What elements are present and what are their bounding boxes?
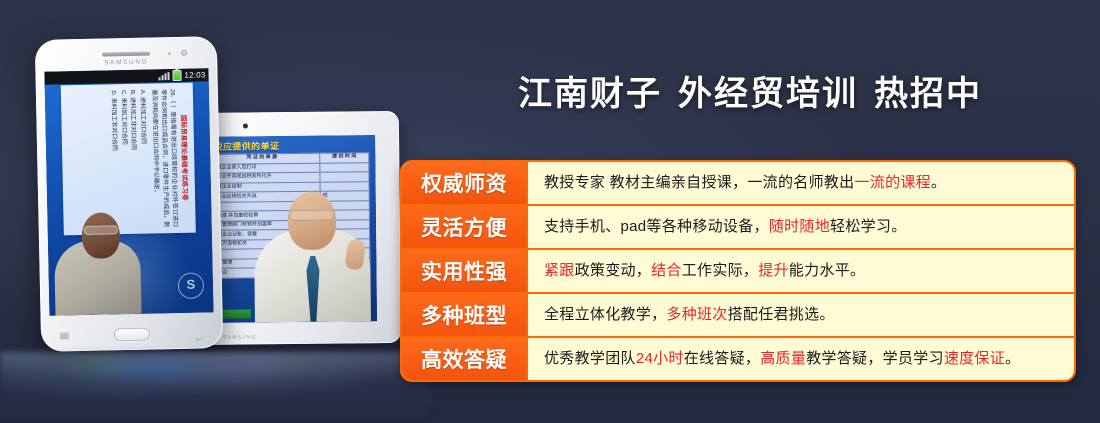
highlight-text: 高质量 — [760, 349, 806, 369]
highlight-text: 一流的课程 — [854, 173, 931, 193]
headline-part-3: 热招中 — [874, 75, 982, 113]
highlight-text: 提升 — [758, 261, 789, 281]
body-text: 支持手机、pad等各种移动设备， — [544, 217, 769, 237]
headline-part-1: 江南财子 — [518, 75, 662, 113]
lecturer-glasses-icon — [289, 210, 335, 221]
phone-home-button[interactable] — [114, 328, 150, 342]
highlight-text: 速度保证 — [944, 349, 1005, 369]
body-text: 能力水平。 — [789, 261, 866, 281]
page-title: 江南财子外经贸培训热招中 — [400, 66, 1100, 115]
phone-earpiece-icon — [102, 52, 150, 57]
body-text: 在线答疑， — [684, 349, 761, 369]
table-header-cell: 提 供 时 间 — [320, 153, 369, 163]
battery-icon — [172, 70, 181, 81]
feature-label-3: 多种班型 — [402, 294, 528, 336]
body-text: 教学答疑，学员学习 — [806, 349, 944, 369]
phone-back-key[interactable] — [195, 329, 204, 336]
feature-row: 权威师资教授专家 教材主编亲自授课，一流的名师教出一流的课程。 — [402, 162, 1074, 206]
feature-panel: 权威师资教授专家 教材主编亲自授课，一流的名师教出一流的课程。灵活方便支持手机、… — [400, 160, 1076, 382]
feature-label-4: 高效答疑 — [402, 338, 528, 380]
feature-description-1: 支持手机、pad等各种移动设备，随时随地轻松学习。 — [528, 206, 1074, 248]
status-clock: 12:03 — [184, 70, 205, 79]
feature-row: 实用性强紧跟政策变动，结合工作实际，提升能力水平。 — [402, 250, 1074, 294]
lecturer-head — [81, 212, 120, 259]
body-text: 政策变动， — [575, 261, 652, 281]
highlight-text: 24小时 — [636, 349, 684, 369]
lecturer-figure — [51, 198, 145, 316]
body-text: 全程立体化教学， — [544, 305, 666, 325]
tablet-brand-label: SAMSUNG — [223, 334, 257, 340]
floor-reflection — [0, 352, 430, 423]
feature-description-2: 紧跟政策变动，结合工作实际，提升能力水平。 — [528, 250, 1074, 292]
phone-video-player[interactable]: 国际贸易理论基础考试练习卷 26.（ ）是指需有进出口经营权的企业对外签订进口零… — [44, 68, 213, 315]
phone-camera-icon — [181, 50, 187, 56]
floor-reflection-color — [55, 355, 305, 400]
promo-banner: 退税应提供的单证 凭 证 的 来 源 提 供 时 间 由申报企业录入后打印 供货… — [0, 0, 1100, 423]
highlight-text: 紧跟 — [544, 261, 575, 281]
lecturer-glasses-icon — [84, 225, 118, 235]
feature-row: 多种班型全程立体化教学，多种班次搭配任君挑选。 — [402, 294, 1074, 338]
phone-screen[interactable]: 12:03 国际贸易理论基础考试练习卷 26.（ ）是指需有进出口经营权的企业对… — [44, 68, 213, 315]
body-text: 工作实际， — [682, 261, 759, 281]
body-text: 。 — [931, 173, 946, 193]
feature-label-0: 权威师资 — [402, 162, 528, 204]
feature-description-3: 全程立体化教学，多种班次搭配任君挑选。 — [528, 294, 1074, 336]
feature-row: 高效答疑优秀教学团队24小时在线答疑，高质量教学答疑，学员学习速度保证。 — [402, 338, 1074, 380]
phone-sensor-icon — [168, 52, 171, 55]
highlight-text: 随时随地 — [769, 217, 830, 237]
quiz-question-stem: 26.（ ）是指需有进出口经营权的企业对外签订进口零件合同和出口成品合同，进口零… — [148, 89, 178, 228]
quiz-title: 国际贸易理论基础考试练习卷 — [179, 89, 191, 227]
body-text: 教授专家 教材主编亲自授课，一流的名师教出 — [544, 173, 854, 193]
tablet-slide: 退税应提供的单证 凭 证 的 来 源 提 供 时 间 由申报企业录入后打印 供货… — [199, 135, 377, 323]
feature-label-2: 实用性强 — [402, 250, 528, 292]
feature-description-4: 优秀教学团队24小时在线答疑，高质量教学答疑，学员学习速度保证。 — [528, 338, 1074, 380]
lecturer-figure — [253, 169, 371, 322]
tablet-camera-icon — [243, 123, 248, 128]
feature-label-1: 灵活方便 — [402, 206, 528, 248]
body-text: 轻松学习。 — [830, 217, 907, 237]
body-text: 搭配任君挑选。 — [728, 305, 835, 325]
phone-menu-key[interactable] — [60, 332, 69, 339]
body-text: 优秀教学团队 — [544, 349, 636, 369]
headline-part-2: 外经贸培训 — [678, 75, 858, 113]
tablet-slide-title: 退税应提供的单证 — [199, 138, 375, 153]
body-text: 。 — [1005, 349, 1020, 369]
signal-bars-icon — [158, 72, 169, 80]
highlight-text: 结合 — [651, 261, 682, 281]
phone-device: SAMSUNG 12:03 国际贸易理论基础考试练习卷 26.（ ）是指需有进出… — [35, 36, 223, 352]
phone-brand-label: SAMSUNG — [104, 59, 148, 67]
tablet-screen[interactable]: 退税应提供的单证 凭 证 的 来 源 提 供 时 间 由申报企业录入后打印 供货… — [199, 135, 377, 323]
highlight-text: 多种班次 — [666, 305, 727, 325]
feature-row: 灵活方便支持手机、pad等各种移动设备，随时随地轻松学习。 — [402, 206, 1074, 250]
feature-description-0: 教授专家 教材主编亲自授课，一流的名师教出一流的课程。 — [528, 162, 1074, 204]
